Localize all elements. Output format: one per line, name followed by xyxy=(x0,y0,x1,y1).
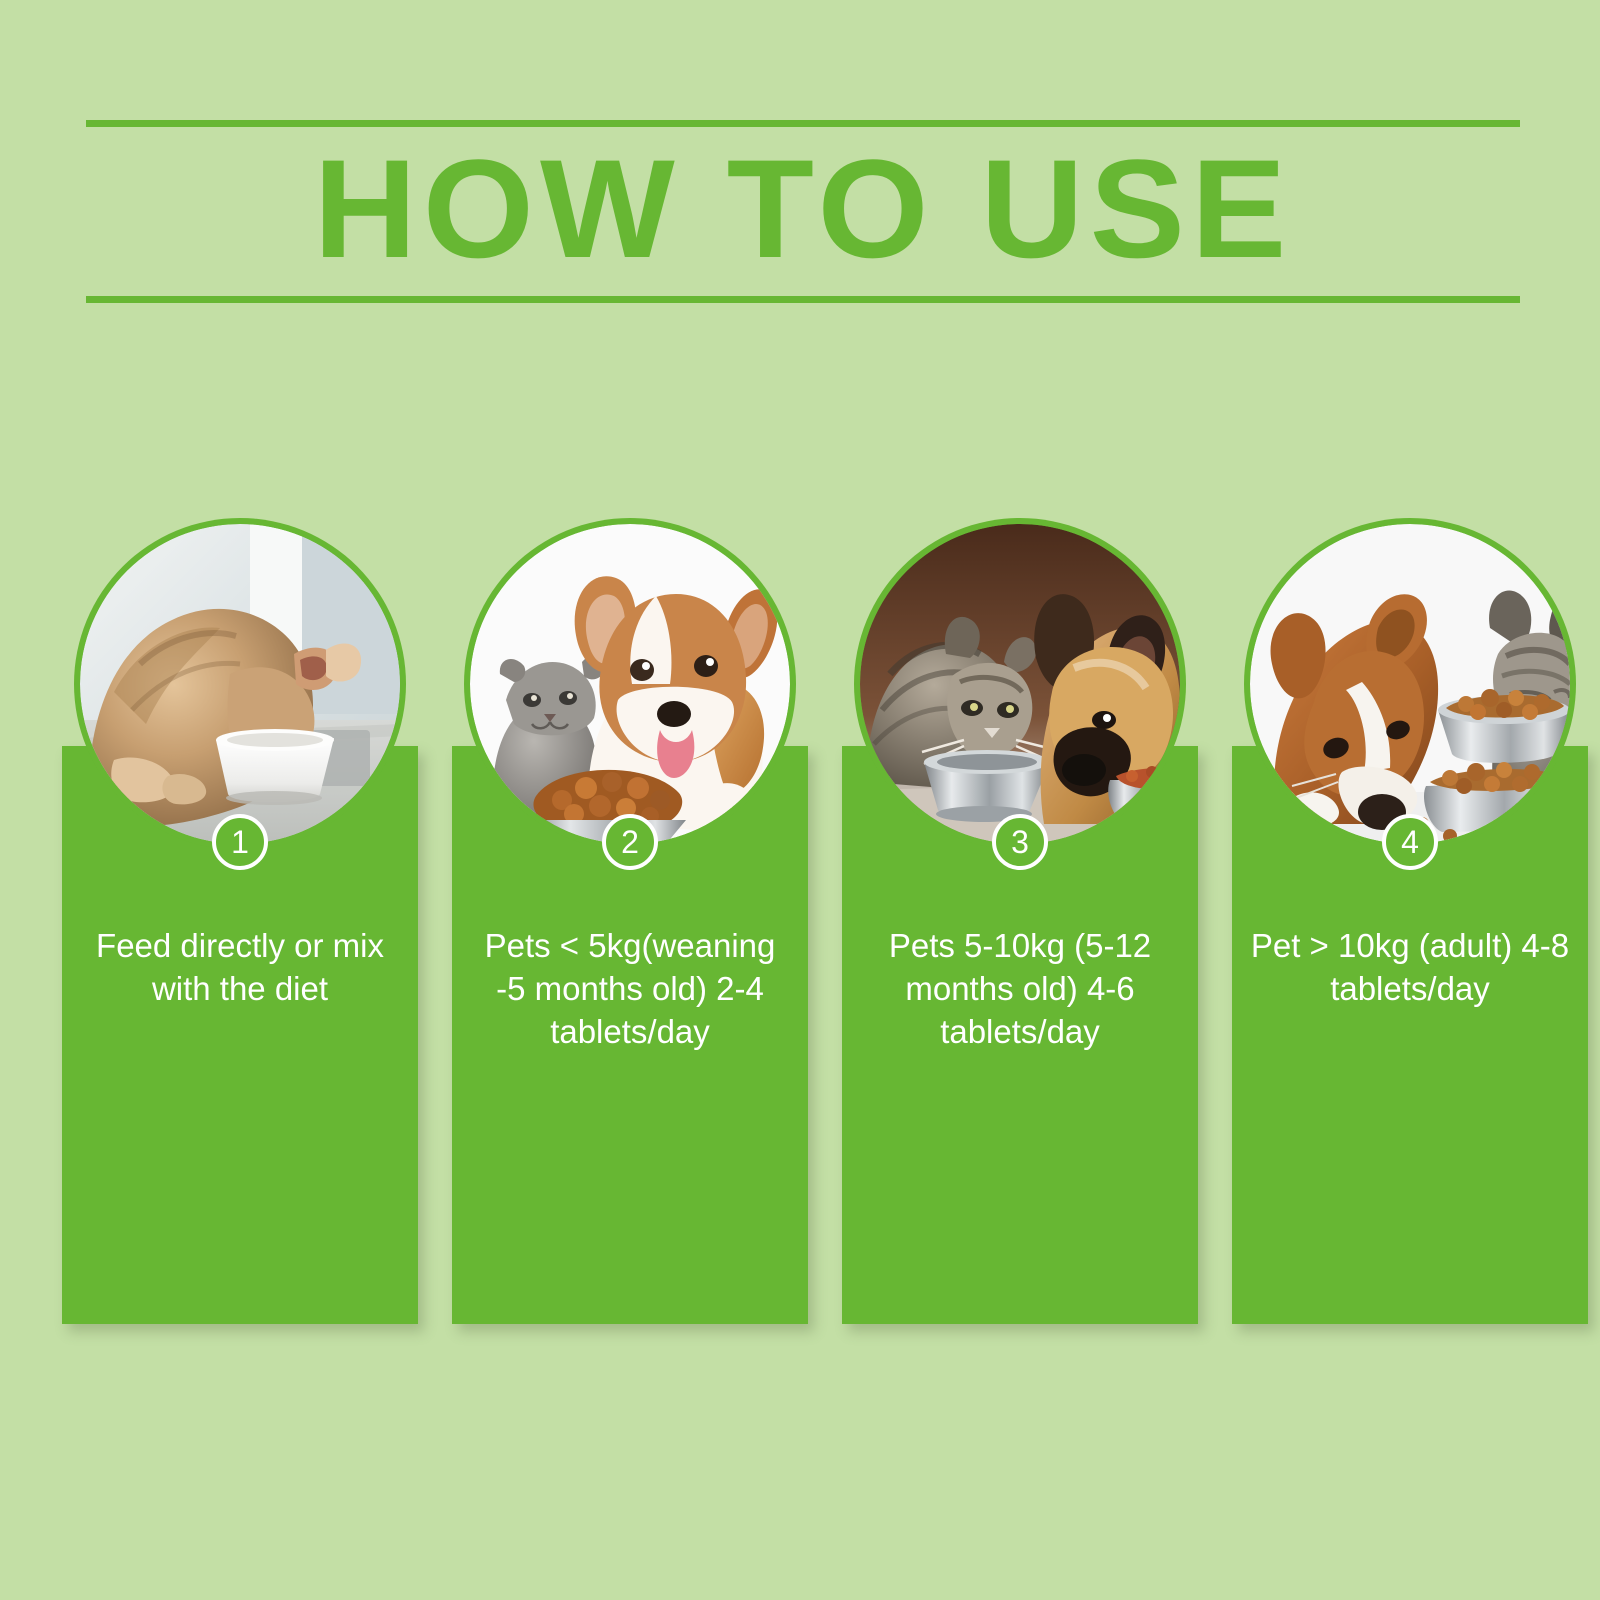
photo-dog-and-cat-eating-kibble xyxy=(1250,524,1570,844)
step-card-1[interactable]: 1 Feed directly or mix with the diet xyxy=(62,524,418,1324)
step-photo-frame xyxy=(80,524,400,844)
step-description: Feed directly or mix with the diet xyxy=(76,924,404,1010)
step-photo-frame xyxy=(860,524,1180,844)
step-number-badge: 2 xyxy=(602,814,658,870)
step-description: Pets 5-10kg (5-12 months old) 4-6 tablet… xyxy=(856,924,1184,1053)
poster-header: HOW TO USE xyxy=(86,112,1520,307)
step-card-3[interactable]: 3 Pets 5-10kg (5-12 months old) 4-6 tabl… xyxy=(842,524,1198,1324)
step-photo-frame xyxy=(470,524,790,844)
photo-cat-and-dog-eating-from-metal-bowls xyxy=(860,524,1180,844)
header-rule-bottom xyxy=(86,296,1520,303)
photo-cat-eating-from-white-bowl xyxy=(80,524,400,844)
step-card-4[interactable]: 4 Pet > 10kg (adult) 4-8 tablets/day xyxy=(1232,524,1588,1324)
poster-root: HOW TO USE xyxy=(0,0,1600,1600)
photo-kitten-and-puppy-with-kibble-bowl xyxy=(470,524,790,844)
page-title: HOW TO USE xyxy=(72,130,1535,288)
step-description: Pet > 10kg (adult) 4-8 tablets/day xyxy=(1246,924,1574,1010)
step-number-badge: 4 xyxy=(1382,814,1438,870)
step-card-2[interactable]: 2 Pets < 5kg(weaning -5 months old) 2-4 … xyxy=(452,524,808,1324)
steps-row: 1 Feed directly or mix with the diet xyxy=(62,524,1540,1334)
header-rule-top xyxy=(86,120,1520,127)
step-photo-frame xyxy=(1250,524,1570,844)
step-description: Pets < 5kg(weaning -5 months old) 2-4 ta… xyxy=(466,924,794,1053)
step-number-badge: 3 xyxy=(992,814,1048,870)
step-number-badge: 1 xyxy=(212,814,268,870)
